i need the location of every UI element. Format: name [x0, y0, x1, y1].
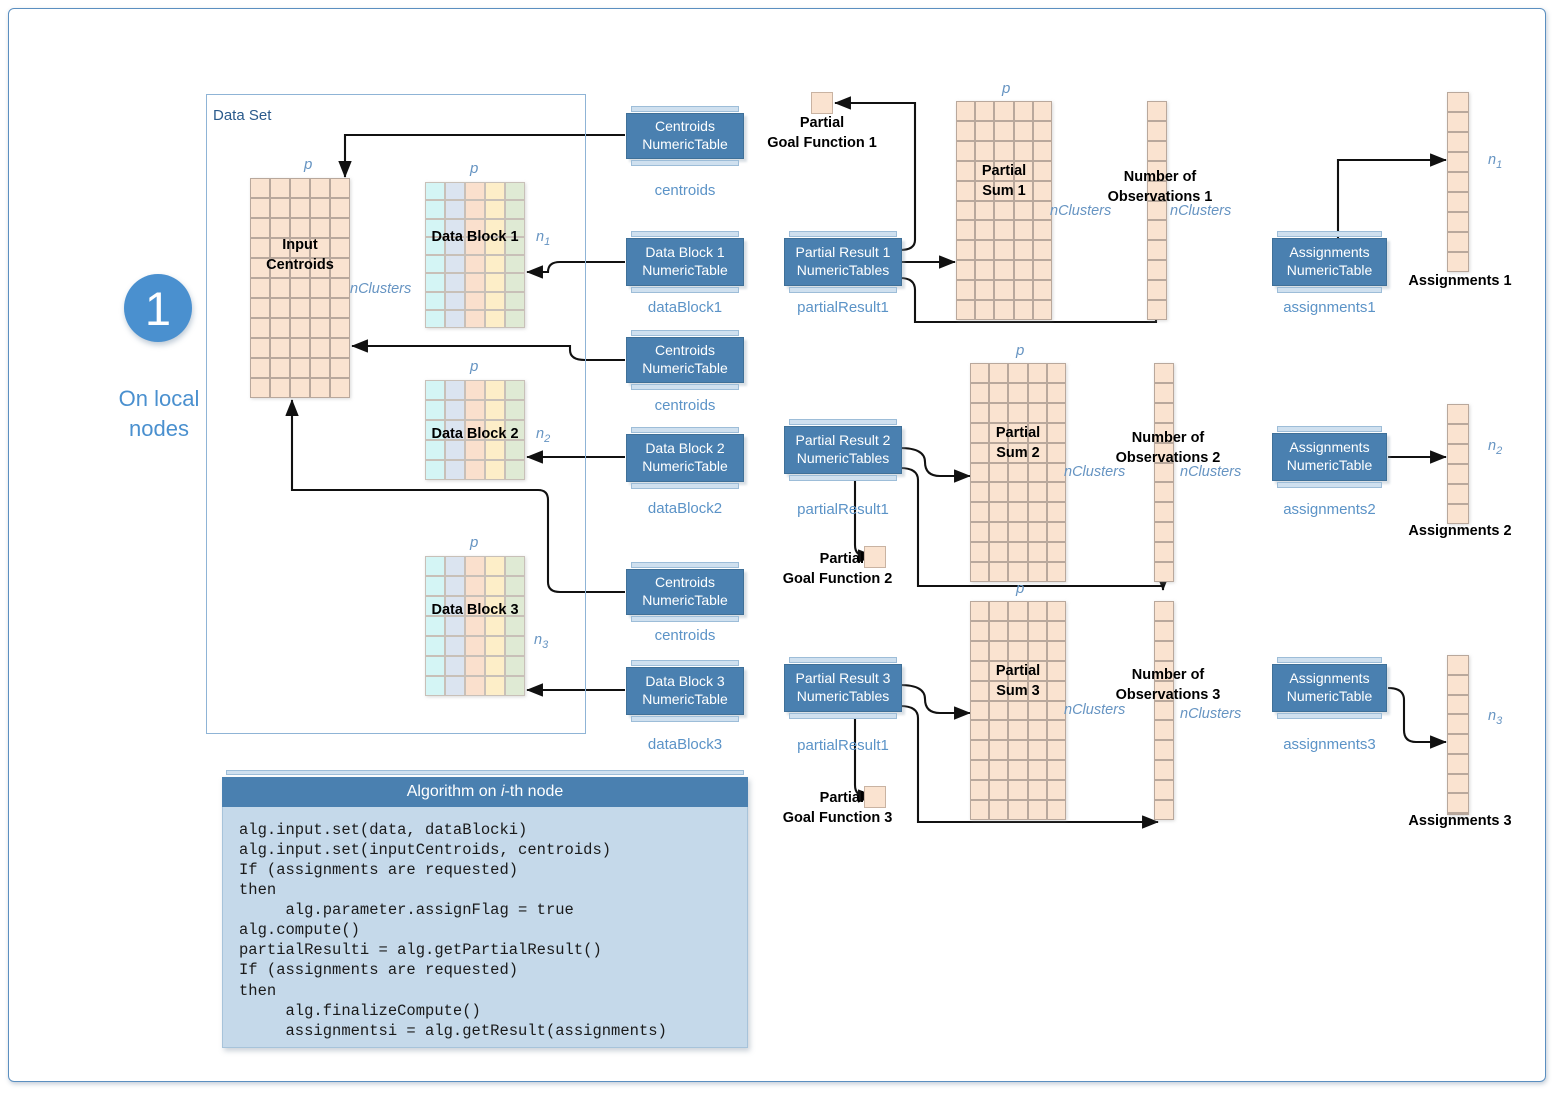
grid-cell [1047, 423, 1066, 443]
partial-sum-1-grid [956, 101, 1052, 320]
grid-cell [465, 310, 485, 328]
grid-cell [956, 201, 975, 221]
grid-cell [970, 701, 989, 721]
grid-cell [465, 219, 485, 237]
grid-cell [1014, 220, 1033, 240]
n-observations-2-grid [1154, 363, 1174, 582]
grid-cell [330, 198, 350, 218]
box-cap-bottom [1277, 287, 1382, 293]
grid-cell [445, 460, 465, 480]
db2-n: n [536, 426, 544, 442]
grid-cell [1008, 542, 1027, 562]
grid-cell [270, 178, 290, 198]
grid-cell [445, 182, 465, 200]
grid-cell [1447, 132, 1469, 152]
grid-cell [250, 298, 270, 318]
grid-cell [1047, 681, 1066, 701]
partial-goal-function-2-label2: Goal Function 2 [760, 570, 915, 590]
grid-cell [505, 273, 525, 291]
grid-cell [1154, 482, 1174, 502]
grid-cell [505, 255, 525, 273]
grid-cell [485, 596, 505, 616]
grid-cell [310, 358, 330, 378]
grid-cell [994, 240, 1013, 260]
grid-cell [465, 237, 485, 255]
box-cap-bottom [631, 483, 739, 489]
grid-cell [1154, 760, 1174, 780]
grid-cell [1047, 780, 1066, 800]
centroids-box-1-caption: centroids [626, 182, 744, 199]
box-cap-bottom [631, 384, 739, 390]
partial-result-box-2-wrap[interactable]: Partial Result 2 NumericTables [784, 426, 902, 474]
grid-cell [1028, 502, 1047, 522]
grid-cell [425, 556, 445, 576]
grid-cell [1047, 482, 1066, 502]
grid-cell [485, 380, 505, 400]
grid-cell [250, 378, 270, 398]
grid-cell [465, 255, 485, 273]
data-block-box-2[interactable]: Data Block 2 NumericTable [626, 434, 744, 482]
grid-cell [970, 720, 989, 740]
grid-cell [970, 740, 989, 760]
grid-cell [505, 420, 525, 440]
centroids-box-2[interactable]: Centroids NumericTable [626, 337, 744, 383]
partial-goal-function-1-label: Partial Goal Function 1 [742, 114, 902, 153]
grid-cell [505, 400, 525, 420]
grid-cell [445, 556, 465, 576]
partial-result-box-1-wrap[interactable]: Partial Result 1 NumericTables [784, 238, 902, 286]
partial-result-box-3[interactable]: Partial Result 3 NumericTables [784, 664, 902, 712]
grid-cell [1014, 181, 1033, 201]
grid-cell [290, 258, 310, 278]
grid-cell [330, 178, 350, 198]
step-number: 1 [145, 281, 171, 336]
grid-cell [970, 383, 989, 403]
grid-cell [445, 636, 465, 656]
centroids-box-3[interactable]: Centroids NumericTable [626, 569, 744, 615]
grid-cell [1447, 424, 1469, 444]
grid-cell [465, 182, 485, 200]
grid-cell [994, 141, 1013, 161]
grid-cell [994, 280, 1013, 300]
grid-cell [425, 273, 445, 291]
grid-cell [270, 358, 290, 378]
partial-result-box-1[interactable]: Partial Result 1 NumericTables [784, 238, 902, 286]
partial-result-box-2-line2: NumericTables [796, 450, 891, 468]
grid-cell [956, 260, 975, 280]
partial-result-box-3-wrap[interactable]: Partial Result 3 NumericTables [784, 664, 902, 712]
grid-cell [250, 198, 270, 218]
partial-result-box-2-caption: partialResult1 [784, 501, 902, 518]
grid-cell [1147, 300, 1167, 320]
grid-cell [485, 460, 505, 480]
grid-cell [445, 616, 465, 636]
grid-cell [1147, 240, 1167, 260]
grid-cell [445, 310, 465, 328]
grid-cell [1033, 260, 1052, 280]
partial-result-box-2[interactable]: Partial Result 2 NumericTables [784, 426, 902, 474]
box-cap-top [631, 231, 739, 237]
grid-cell [1047, 720, 1066, 740]
data-block-box-3-wrap[interactable]: Data Block 3 NumericTable [626, 667, 744, 715]
grid-cell [250, 258, 270, 278]
partial-sum-3-grid [970, 601, 1066, 820]
grid-cell [465, 420, 485, 440]
grid-cell [310, 198, 330, 218]
grid-cell [505, 292, 525, 310]
centroids-box-2-line1: Centroids [642, 342, 728, 360]
step-caption: On local nodes [100, 384, 218, 443]
grid-cell [1047, 661, 1066, 681]
grid-cell [1033, 280, 1052, 300]
grid-cell [485, 400, 505, 420]
grid-cell [425, 440, 445, 460]
grid-cell [989, 482, 1008, 502]
partial-goal-function-3-label2: Goal Function 3 [760, 809, 915, 829]
grid-cell [1028, 463, 1047, 483]
grid-cell [330, 358, 350, 378]
data-block-2-p-label: p [470, 358, 478, 375]
grid-cell [485, 292, 505, 310]
grid-cell [1154, 720, 1174, 740]
code-header-a: Algorithm on [407, 783, 501, 800]
grid-cell [1008, 482, 1027, 502]
grid-cell [465, 440, 485, 460]
partial-sum-2-p-label: p [1016, 342, 1024, 359]
grid-cell [1008, 423, 1027, 443]
assignments-3-title: Assignments 3 [1395, 812, 1525, 832]
grid-cell [1154, 522, 1174, 542]
grid-cell [1447, 172, 1469, 192]
grid-cell [1447, 695, 1469, 715]
grid-cell [1008, 601, 1027, 621]
db1-n: n [536, 229, 544, 245]
data-block-box-2-line2: NumericTable [642, 458, 728, 476]
centroids-box-3-line1: Centroids [642, 574, 728, 592]
grid-cell [1154, 403, 1174, 423]
grid-cell [330, 278, 350, 298]
grid-cell [505, 219, 525, 237]
data-block-2-grid [425, 380, 525, 480]
centroids-box-1[interactable]: Centroids NumericTable [626, 113, 744, 159]
box-cap-top [1277, 657, 1382, 663]
n-observations-1-rows-label: nClusters [1170, 203, 1231, 219]
grid-cell [1028, 780, 1047, 800]
grid-cell [975, 101, 994, 121]
grid-cell [270, 278, 290, 298]
grid-cell [956, 240, 975, 260]
grid-cell [310, 278, 330, 298]
grid-cell [1147, 121, 1167, 141]
assignments-box-1[interactable]: Assignments NumericTable [1272, 238, 1387, 286]
grid-cell [1047, 443, 1066, 463]
grid-cell [1447, 774, 1469, 794]
dataset-label: Data Set [213, 107, 271, 124]
grid-cell [250, 178, 270, 198]
grid-cell [1154, 621, 1174, 641]
grid-cell [1447, 655, 1469, 675]
grid-cell [505, 380, 525, 400]
grid-cell [994, 300, 1013, 320]
grid-cell [956, 121, 975, 141]
grid-cell [970, 403, 989, 423]
assignments-2-vector [1447, 404, 1469, 524]
grid-cell [330, 298, 350, 318]
algorithm-code-body: alg.input.set(data, dataBlocki) alg.inpu… [239, 820, 739, 1041]
grid-cell [1033, 121, 1052, 141]
as2-n-sub: 2 [1496, 445, 1502, 457]
assignments-box-1-wrap[interactable]: Assignments NumericTable [1272, 238, 1387, 286]
grid-cell [250, 318, 270, 338]
grid-cell [485, 636, 505, 656]
grid-cell [956, 141, 975, 161]
grid-cell [1154, 542, 1174, 562]
grid-cell [994, 181, 1013, 201]
centroids-box-2-caption: centroids [626, 397, 744, 414]
grid-cell [290, 358, 310, 378]
grid-cell [975, 181, 994, 201]
assignments-box-2-line1: Assignments [1287, 439, 1373, 457]
grid-cell [485, 440, 505, 460]
pgf1-line1: Partial [742, 114, 902, 134]
grid-cell [290, 198, 310, 218]
grid-cell [989, 403, 1008, 423]
grid-cell [1154, 502, 1174, 522]
pgf2-line1: Partial [776, 550, 864, 570]
grid-cell [485, 237, 505, 255]
grid-cell [1147, 260, 1167, 280]
centroids-box-2-line2: NumericTable [642, 360, 728, 378]
grid-cell [1154, 800, 1174, 820]
grid-cell [956, 101, 975, 121]
algorithm-code-header: Algorithm on i-th node [222, 777, 748, 807]
grid-cell [1028, 720, 1047, 740]
assignments-3-n-label: n3 [1488, 708, 1502, 727]
grid-cell [1447, 675, 1469, 695]
assignments-box-3-line2: NumericTable [1287, 688, 1373, 706]
assignments-box-3[interactable]: Assignments NumericTable [1272, 664, 1387, 712]
grid-cell [270, 378, 290, 398]
grid-cell [1008, 403, 1027, 423]
grid-cell [970, 681, 989, 701]
grid-cell [425, 400, 445, 420]
grid-cell [310, 218, 330, 238]
grid-cell [505, 200, 525, 218]
data-block-box-1-wrap[interactable]: Data Block 1 NumericTable [626, 238, 744, 286]
grid-cell [1008, 562, 1027, 582]
assignments-box-2[interactable]: Assignments NumericTable [1272, 433, 1387, 481]
no3-line1: Number of [1098, 666, 1238, 686]
grid-cell [1033, 101, 1052, 121]
grid-cell [330, 318, 350, 338]
assignments-box-3-wrap[interactable]: Assignments NumericTable [1272, 664, 1387, 712]
grid-cell [1014, 240, 1033, 260]
grid-cell [1014, 101, 1033, 121]
grid-cell [465, 656, 485, 676]
grid-cell [1008, 661, 1027, 681]
grid-cell [1014, 161, 1033, 181]
data-block-box-1[interactable]: Data Block 1 NumericTable [626, 238, 744, 286]
grid-cell [270, 238, 290, 258]
data-block-box-1-line1: Data Block 1 [642, 244, 728, 262]
grid-cell [330, 338, 350, 358]
grid-cell [994, 161, 1013, 181]
grid-cell [1033, 300, 1052, 320]
data-block-box-2-wrap[interactable]: Data Block 2 NumericTable [626, 434, 744, 482]
grid-cell [425, 380, 445, 400]
centroids-box-3-line2: NumericTable [642, 592, 728, 610]
grid-cell [485, 310, 505, 328]
grid-cell [1014, 260, 1033, 280]
input-centroids-grid [250, 178, 350, 398]
grid-cell [989, 740, 1008, 760]
grid-cell [485, 556, 505, 576]
grid-cell [1147, 280, 1167, 300]
grid-cell [989, 522, 1008, 542]
as1-n: n [1488, 152, 1496, 168]
grid-cell [975, 260, 994, 280]
grid-cell [1008, 383, 1027, 403]
grid-cell [970, 661, 989, 681]
box-cap-top [789, 419, 897, 425]
grid-cell [485, 219, 505, 237]
as1-n-sub: 1 [1496, 159, 1502, 171]
grid-cell [1047, 363, 1066, 383]
grid-cell [970, 502, 989, 522]
grid-cell [970, 463, 989, 483]
grid-cell [1447, 484, 1469, 504]
partial-result-box-3-line2: NumericTables [796, 688, 891, 706]
box-cap-bottom [631, 616, 739, 622]
grid-cell [975, 201, 994, 221]
centroids-box-1-line1: Centroids [642, 118, 728, 136]
grid-cell [425, 596, 445, 616]
grid-cell [989, 383, 1008, 403]
diagram-canvas: 1 On local nodes Data Set p Input Centro… [0, 0, 1560, 1096]
grid-cell [505, 576, 525, 596]
grid-cell [270, 198, 290, 218]
centroids-box-2-wrap[interactable]: Centroids NumericTable [626, 337, 744, 383]
grid-cell [1047, 760, 1066, 780]
grid-cell [290, 338, 310, 358]
grid-cell [994, 220, 1013, 240]
grid-cell [505, 310, 525, 328]
grid-cell [1447, 504, 1469, 524]
grid-cell [425, 200, 445, 218]
grid-cell [465, 636, 485, 656]
grid-cell [970, 482, 989, 502]
grid-cell [425, 656, 445, 676]
box-cap-bottom [631, 287, 739, 293]
grid-cell [485, 182, 505, 200]
assignments-box-2-caption: assignments2 [1272, 501, 1387, 518]
grid-cell [505, 440, 525, 460]
grid-cell [290, 298, 310, 318]
centroids-box-1-line2: NumericTable [642, 136, 728, 154]
grid-cell [989, 562, 1008, 582]
as2-n: n [1488, 438, 1496, 454]
n-observations-2-rows-label: nClusters [1180, 464, 1241, 480]
grid-cell [1008, 780, 1027, 800]
grid-cell [956, 220, 975, 240]
grid-cell [330, 258, 350, 278]
grid-cell [1154, 363, 1174, 383]
grid-cell [1447, 152, 1469, 172]
step-number-badge: 1 [124, 274, 192, 342]
grid-cell [445, 576, 465, 596]
grid-cell [270, 298, 290, 318]
grid-cell [1447, 444, 1469, 464]
grid-cell [310, 238, 330, 258]
assignments-box-2-wrap[interactable]: Assignments NumericTable [1272, 433, 1387, 481]
partial-result-box-3-caption: partialResult1 [784, 737, 902, 754]
grid-cell [1008, 681, 1027, 701]
partial-sum-3-p-label: p [1016, 580, 1024, 597]
grid-cell [970, 780, 989, 800]
grid-cell [1014, 280, 1033, 300]
grid-cell [1008, 363, 1027, 383]
grid-cell [485, 255, 505, 273]
grid-cell [270, 338, 290, 358]
grid-cell [1028, 383, 1047, 403]
grid-cell [505, 237, 525, 255]
grid-cell [1447, 232, 1469, 252]
grid-cell [989, 363, 1008, 383]
grid-cell [465, 460, 485, 480]
centroids-box-1-wrap[interactable]: Centroids NumericTable [626, 113, 744, 159]
partial-result-box-1-line1: Partial Result 1 [796, 244, 891, 262]
grid-cell [1028, 760, 1047, 780]
grid-cell [1154, 641, 1174, 661]
data-block-box-1-caption: dataBlock1 [626, 299, 744, 316]
centroids-box-3-wrap[interactable]: Centroids NumericTable [626, 569, 744, 615]
grid-cell [425, 219, 445, 237]
box-cap-bottom [1277, 713, 1382, 719]
grid-cell [310, 298, 330, 318]
assignments-box-1-line1: Assignments [1287, 244, 1373, 262]
grid-cell [485, 656, 505, 676]
data-block-box-1-line2: NumericTable [642, 262, 728, 280]
data-block-box-3[interactable]: Data Block 3 NumericTable [626, 667, 744, 715]
grid-cell [989, 780, 1008, 800]
grid-cell [465, 596, 485, 616]
grid-cell [465, 556, 485, 576]
grid-cell [975, 121, 994, 141]
grid-cell [975, 240, 994, 260]
partial-goal-function-2-square [864, 546, 886, 568]
db3-n: n [534, 632, 542, 648]
partial-goal-function-3-square [864, 786, 886, 808]
grid-cell [1008, 740, 1027, 760]
grid-cell [994, 260, 1013, 280]
grid-cell [1047, 601, 1066, 621]
grid-cell [445, 676, 465, 696]
box-cap-top [1277, 231, 1382, 237]
grid-cell [505, 616, 525, 636]
grid-cell [1033, 240, 1052, 260]
grid-cell [1008, 760, 1027, 780]
grid-cell [425, 420, 445, 440]
grid-cell [970, 542, 989, 562]
grid-cell [989, 720, 1008, 740]
assignments-box-1-caption: assignments1 [1272, 299, 1387, 316]
assignments-3-vector [1447, 655, 1469, 815]
grid-cell [250, 278, 270, 298]
data-block-1-p-label: p [470, 160, 478, 177]
grid-cell [290, 178, 310, 198]
grid-cell [1008, 621, 1027, 641]
grid-cell [485, 676, 505, 696]
